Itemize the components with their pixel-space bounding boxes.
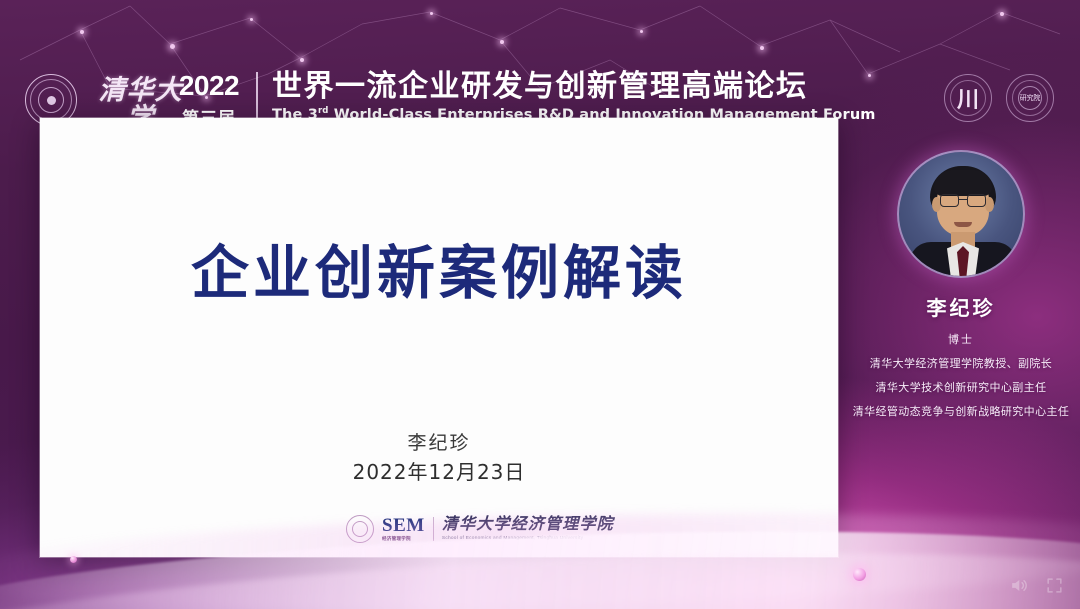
forum-title-ordinal: rd <box>318 106 329 116</box>
partner-logo-1-mark: 川 <box>945 75 991 121</box>
sem-name-en: School of Economics and Management, Tsin… <box>442 536 614 542</box>
star-dot <box>430 12 433 15</box>
partner-logo-2: 研究院 <box>1006 74 1054 122</box>
volume-icon[interactable] <box>1009 576 1028 595</box>
forum-header-banner: 清华大学 Tsinghua University 2022 第三届 世界一流企业… <box>0 30 1080 108</box>
speaker-degree: 博士 <box>842 331 1080 347</box>
sem-name-block: 清华大学经济管理学院 School of Economics and Manag… <box>442 516 614 542</box>
sem-abbr-text: SEM <box>382 515 425 536</box>
presentation-slide[interactable]: 企业创新案例解读 李纪珍 2022年12月23日 SEM 经济管理学院 清华大学… <box>40 118 838 557</box>
glow-bubble-small <box>70 556 77 563</box>
forum-title-block: 世界一流企业研发与创新管理高端论坛 The 3rd World-Class En… <box>272 70 876 123</box>
sem-name-cn: 清华大学经济管理学院 <box>442 516 614 534</box>
forum-title-cn: 世界一流企业研发与创新管理高端论坛 <box>272 70 876 103</box>
speaker-title-2: 清华大学技术创新研究中心副主任 <box>842 379 1080 395</box>
header-partner-logos: 川 研究院 <box>944 74 1054 122</box>
sem-school-logo: SEM 经济管理学院 清华大学经济管理学院 School of Economic… <box>346 515 614 543</box>
speaker-name: 李纪珍 <box>842 292 1080 321</box>
speaker-title-3: 清华经管动态竞争与创新战略研究中心主任 <box>842 403 1080 419</box>
video-player-stage: 清华大学 Tsinghua University 2022 第三届 世界一流企业… <box>0 0 1080 609</box>
sem-seal-icon <box>346 515 374 543</box>
sem-abbr-subtext: 经济管理学院 <box>382 537 425 542</box>
sem-logo-divider <box>433 517 434 541</box>
speaker-title-1: 清华大学经济管理学院教授、副院长 <box>842 355 1080 371</box>
speaker-info-panel: 李纪珍 博士 清华大学经济管理学院教授、副院长 清华大学技术创新研究中心副主任 … <box>842 150 1080 419</box>
partner-logo-2-mark: 研究院 <box>1018 86 1042 110</box>
fullscreen-icon[interactable] <box>1045 576 1064 595</box>
forum-year: 2022 <box>172 72 246 100</box>
glow-bubble-large <box>853 568 866 581</box>
slide-title: 企业创新案例解读 <box>40 226 838 310</box>
star-dot <box>1000 12 1004 16</box>
star-dot <box>250 18 253 21</box>
speaker-avatar <box>897 150 1025 278</box>
sem-abbreviation: SEM 经济管理学院 <box>382 516 425 542</box>
slide-date: 2022年12月23日 <box>40 456 838 485</box>
partner-logo-1: 川 <box>944 74 992 122</box>
slide-presenter-name: 李纪珍 <box>40 428 838 455</box>
player-controls <box>1009 576 1064 595</box>
